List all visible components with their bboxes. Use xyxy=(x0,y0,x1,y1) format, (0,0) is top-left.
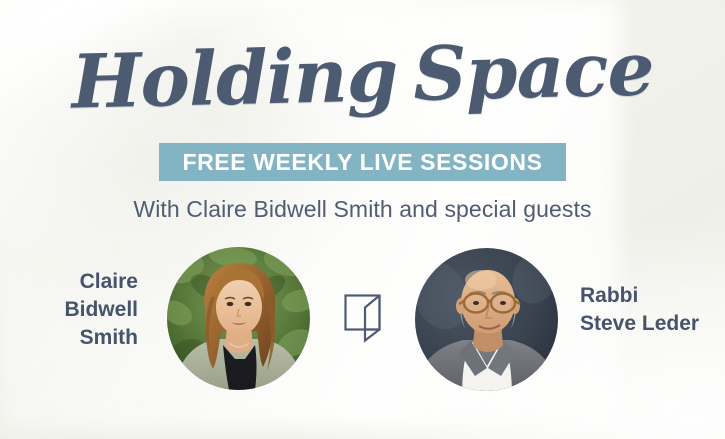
holding-space-logo-mark xyxy=(343,293,387,343)
title-word-space: Space xyxy=(412,29,654,114)
holding-space-promo-graphic: HoldingSpace FREE WEEKLY LIVE SESSIONS W… xyxy=(0,0,725,439)
title-word-holding: Holding xyxy=(71,35,399,122)
speaker-left-line-3: Smith xyxy=(0,324,138,352)
banner-label: FREE WEEKLY LIVE SESSIONS xyxy=(182,149,542,176)
speaker-right-line-2: Steve Leder xyxy=(580,310,725,338)
speaker-right-line-1: Rabbi xyxy=(580,282,725,310)
speaker-name-rabbi-steve-leder: Rabbi Steve Leder xyxy=(580,282,725,338)
page-title: HoldingSpace xyxy=(0,28,725,124)
speaker-name-claire-bidwell-smith: Claire Bidwell Smith xyxy=(0,268,150,352)
speaker-left-line-1: Claire xyxy=(0,268,138,296)
portrait-rabbi-steve-leder xyxy=(415,248,558,391)
portrait-claire-bidwell-smith xyxy=(167,247,310,390)
speaker-left-line-2: Bidwell xyxy=(0,296,138,324)
subtitle: With Claire Bidwell Smith and special gu… xyxy=(0,196,725,223)
free-sessions-banner: FREE WEEKLY LIVE SESSIONS xyxy=(159,143,566,181)
